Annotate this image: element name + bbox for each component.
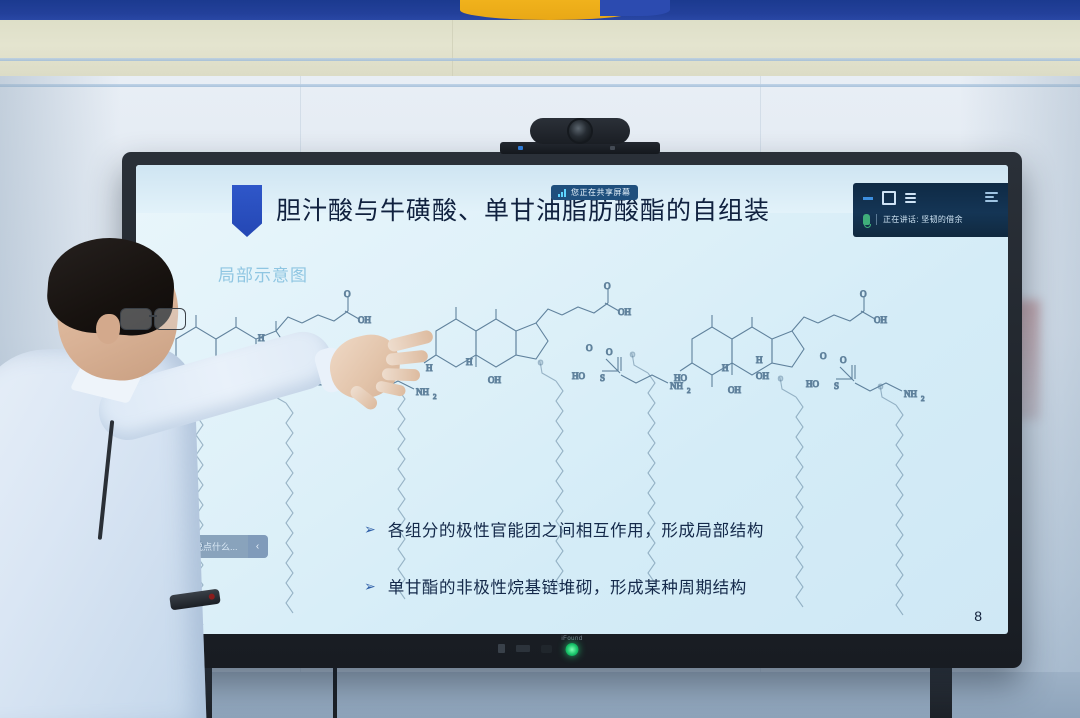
svg-text:HO: HO bbox=[806, 379, 819, 389]
svg-text:NH: NH bbox=[904, 389, 917, 399]
wall-trim-line-1 bbox=[0, 58, 1080, 61]
glasses-icon bbox=[120, 308, 186, 330]
wall-trim-line-2 bbox=[0, 84, 1080, 87]
bezel-camera-icon[interactable] bbox=[541, 645, 552, 653]
bullet-text: 单甘酯的非极性烷基链堆砌，形成某种周期结构 bbox=[388, 574, 747, 598]
title-ribbon-icon bbox=[232, 185, 262, 237]
svg-text:O: O bbox=[538, 359, 543, 367]
bullet-arrow-icon: ➢ bbox=[364, 579, 376, 593]
svg-text:O: O bbox=[586, 343, 593, 353]
svg-text:O: O bbox=[878, 383, 883, 391]
upper-wall-strip bbox=[0, 20, 1080, 76]
meeting-control-panel[interactable]: 正在讲话: 坚韧的借余 bbox=[853, 183, 1008, 237]
microphone-icon bbox=[863, 214, 870, 225]
panel-toggle-icon[interactable] bbox=[985, 192, 998, 202]
svg-text:NH: NH bbox=[670, 381, 683, 391]
glasses-lens bbox=[154, 308, 186, 330]
svg-text:O: O bbox=[778, 375, 783, 383]
svg-text:O: O bbox=[606, 347, 613, 357]
presenter-ear bbox=[96, 314, 120, 344]
svg-text:NH: NH bbox=[416, 387, 429, 397]
display-stand-right bbox=[930, 668, 952, 718]
conference-camera bbox=[530, 118, 630, 144]
svg-text:HO: HO bbox=[674, 373, 687, 383]
glasses-bridge bbox=[149, 315, 157, 317]
svg-text:H: H bbox=[466, 357, 473, 367]
slide-title: 胆汁酸与牛磺酸、单甘油脂肪酸酯的自组装 bbox=[276, 191, 770, 227]
power-led-icon[interactable] bbox=[566, 643, 579, 656]
list-icon[interactable] bbox=[905, 193, 916, 203]
bullet-text: 各组分的极性官能团之间相互作用，形成局部结构 bbox=[388, 517, 764, 541]
svg-text:O: O bbox=[840, 355, 847, 365]
display-brand-label: iFound bbox=[561, 636, 582, 642]
svg-text:O: O bbox=[630, 351, 635, 359]
speaking-status: 正在讲话: 坚韧的借余 bbox=[863, 214, 963, 225]
wall-seam bbox=[452, 20, 453, 76]
screen-sharing-badge: 您正在共享屏幕 bbox=[551, 185, 638, 200]
camera-led bbox=[610, 146, 615, 150]
bullet-arrow-icon: ➢ bbox=[364, 522, 376, 536]
svg-text:OH: OH bbox=[728, 385, 741, 395]
svg-text:OH: OH bbox=[618, 307, 631, 317]
bezel-buttons[interactable] bbox=[498, 644, 552, 653]
bullet-list: ➢ 各组分的极性官能团之间相互作用，形成局部结构 ➢ 单甘酯的非极性烷基链堆砌，… bbox=[364, 517, 764, 598]
svg-text:OH: OH bbox=[756, 371, 769, 381]
display-cable bbox=[333, 668, 337, 718]
list-item: ➢ 单甘酯的非极性烷基链堆砌，形成某种周期结构 bbox=[364, 574, 764, 598]
svg-text:OH: OH bbox=[874, 315, 887, 325]
svg-text:H: H bbox=[756, 355, 763, 365]
svg-text:O: O bbox=[344, 289, 351, 299]
presenter bbox=[0, 240, 330, 718]
list-item: ➢ 各组分的极性官能团之间相互作用，形成局部结构 bbox=[364, 517, 764, 541]
svg-text:S: S bbox=[600, 373, 605, 383]
svg-text:HO: HO bbox=[572, 371, 585, 381]
share-badge-label: 您正在共享屏幕 bbox=[571, 187, 631, 198]
ceiling-blue-accent bbox=[600, 0, 670, 16]
svg-text:2: 2 bbox=[433, 393, 437, 401]
maximize-icon[interactable] bbox=[882, 191, 896, 205]
svg-text:H: H bbox=[426, 363, 433, 373]
svg-text:O: O bbox=[820, 351, 827, 361]
glasses-lens bbox=[120, 308, 152, 330]
slide-page-number: 8 bbox=[974, 608, 982, 624]
window-controls[interactable] bbox=[863, 191, 916, 205]
camera-lens-icon bbox=[569, 120, 591, 142]
bezel-button-icon[interactable] bbox=[498, 644, 505, 653]
speaking-label: 正在讲话: 坚韧的借余 bbox=[883, 214, 963, 225]
svg-text:2: 2 bbox=[921, 395, 925, 403]
divider bbox=[876, 214, 877, 225]
camera-led bbox=[518, 146, 523, 150]
svg-text:O: O bbox=[860, 289, 867, 299]
presenter-finger bbox=[382, 368, 420, 381]
svg-text:O: O bbox=[604, 281, 611, 291]
svg-text:H: H bbox=[722, 363, 729, 373]
bezel-button-icon[interactable] bbox=[516, 645, 530, 652]
svg-text:OH: OH bbox=[488, 375, 501, 385]
minimize-icon[interactable] bbox=[863, 197, 873, 200]
screenshot-root: HO OH H H H O OH bbox=[0, 0, 1080, 718]
svg-text:OH: OH bbox=[358, 315, 371, 325]
svg-text:S: S bbox=[834, 381, 839, 391]
signal-bars-icon bbox=[558, 189, 566, 197]
svg-text:2: 2 bbox=[687, 387, 691, 395]
